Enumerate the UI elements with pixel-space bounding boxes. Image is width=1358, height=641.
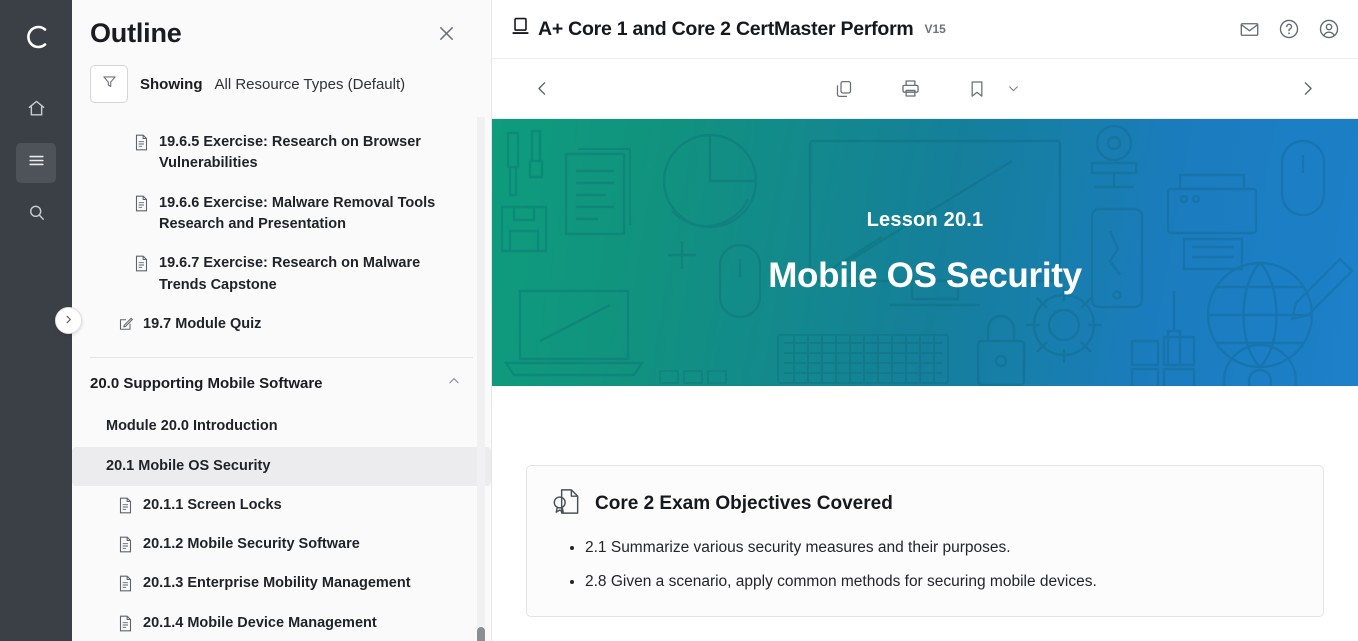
outline-section-20-0[interactable]: 20.0 Supporting Mobile Software xyxy=(72,358,491,407)
search-icon xyxy=(27,203,46,227)
exam-objectives-title: Core 2 Exam Objectives Covered xyxy=(595,493,893,515)
chevron-up-icon[interactable] xyxy=(447,374,461,393)
expand-panel-button[interactable] xyxy=(55,307,82,334)
filter-value[interactable]: All Resource Types (Default) xyxy=(215,76,406,93)
filter-button[interactable] xyxy=(90,65,128,103)
document-icon xyxy=(118,575,134,592)
close-icon xyxy=(436,31,457,48)
document-icon xyxy=(118,536,134,553)
previous-page-button[interactable] xyxy=(528,74,557,103)
course-title: A+ Core 1 and Core 2 CertMaster Perform xyxy=(538,18,914,41)
outline-scrollbar-thumb[interactable] xyxy=(477,627,485,641)
outline-item-label: 20.1.1 Screen Locks xyxy=(143,495,282,516)
outline-item-20-1-3[interactable]: 20.1.3 Enterprise Mobility Management xyxy=(72,564,491,603)
outline-item-label: 19.6.6 Exercise: Malware Removal Tools R… xyxy=(159,193,461,236)
outline-item-19-6-7[interactable]: 19.6.7 Exercise: Research on Malware Tre… xyxy=(72,244,491,305)
bookmark-icon xyxy=(967,86,987,103)
outline-item-label: 20.1 Mobile OS Security xyxy=(106,456,270,477)
chevron-right-icon xyxy=(63,312,74,330)
chevron-right-icon xyxy=(1299,84,1316,101)
course-header-actions xyxy=(1239,18,1340,40)
document-icon xyxy=(134,255,150,272)
outline-panel: Outline Showing All Resource Types (Defa… xyxy=(72,0,492,641)
list-item: 2.8 Given a scenario, apply common metho… xyxy=(585,570,1299,593)
next-page-button[interactable] xyxy=(1293,74,1322,103)
device-icon xyxy=(512,17,529,41)
menu-icon xyxy=(27,151,46,175)
outline-item-label: 20.1.4 Mobile Device Management xyxy=(143,613,377,634)
rail-item-outline[interactable] xyxy=(16,143,56,183)
outline-item-19-6-5[interactable]: 19.6.5 Exercise: Research on Browser Vul… xyxy=(72,123,491,184)
outline-item-19-7-module-quiz[interactable]: 19.7 Module Quiz xyxy=(72,305,491,344)
quiz-icon xyxy=(118,316,134,332)
print-button[interactable] xyxy=(896,74,925,103)
outline-item-label: Module 20.0 Introduction xyxy=(106,416,278,437)
hero-heading: Mobile OS Security xyxy=(768,256,1082,296)
bookmark-more-button[interactable] xyxy=(1007,82,1020,95)
certmaster-logo-icon[interactable] xyxy=(16,17,56,57)
app-root: Outline Showing All Resource Types (Defa… xyxy=(0,0,1358,641)
account-icon[interactable] xyxy=(1318,18,1340,40)
page-title: Outline xyxy=(90,18,182,49)
course-header: A+ Core 1 and Core 2 CertMaster Perform … xyxy=(492,0,1358,59)
outline-item-module-20-0-introduction[interactable]: Module 20.0 Introduction xyxy=(72,407,491,446)
document-icon xyxy=(118,497,134,514)
outline-item-20-1-mobile-os-security[interactable]: 20.1 Mobile OS Security xyxy=(72,447,491,486)
document-icon xyxy=(118,615,134,632)
chevron-down-icon xyxy=(1007,82,1020,99)
list-item: 2.1 Summarize various security measures … xyxy=(585,536,1299,559)
home-icon xyxy=(27,99,46,123)
hero-lesson-label: Lesson 20.1 xyxy=(867,209,984,232)
lesson-hero-banner: Lesson 20.1 Mobile OS Security xyxy=(492,119,1358,386)
course-header-left: A+ Core 1 and Core 2 CertMaster Perform … xyxy=(512,17,946,41)
document-icon xyxy=(134,134,150,151)
chevron-left-icon xyxy=(534,84,551,101)
bookmark-button[interactable] xyxy=(963,75,991,103)
outline-item-label: 19.6.7 Exercise: Research on Malware Tre… xyxy=(159,253,461,296)
close-outline-button[interactable] xyxy=(432,19,461,48)
filter-row: Showing All Resource Types (Default) xyxy=(72,55,491,117)
help-icon[interactable] xyxy=(1278,18,1300,40)
outline-header: Outline xyxy=(72,0,491,55)
outline-item-20-1-1[interactable]: 20.1.1 Screen Locks xyxy=(72,486,491,525)
lesson-toolbar xyxy=(492,59,1358,119)
outline-item-20-1-4[interactable]: 20.1.4 Mobile Device Management xyxy=(72,604,491,641)
outline-tree: 19.6.5 Exercise: Research on Browser Vul… xyxy=(72,117,491,641)
outline-scrollbar-track[interactable] xyxy=(477,117,485,641)
filter-showing-label: Showing xyxy=(140,76,203,93)
tech-pattern-background xyxy=(492,119,1358,386)
exam-objectives-header: Core 2 Exam Objectives Covered xyxy=(551,486,1299,522)
main-content: A+ Core 1 and Core 2 CertMaster Perform … xyxy=(492,0,1358,641)
exam-objectives-list: 2.1 Summarize various security measures … xyxy=(585,536,1299,594)
course-version: V15 xyxy=(925,22,946,36)
rail-item-search[interactable] xyxy=(16,195,56,235)
filter-icon xyxy=(101,73,118,95)
certificate-icon xyxy=(551,486,582,522)
outline-item-label: 19.7 Module Quiz xyxy=(143,314,261,335)
copy-button[interactable] xyxy=(830,75,858,103)
exam-objectives-card: Core 2 Exam Objectives Covered 2.1 Summa… xyxy=(526,465,1324,617)
toolbar-actions xyxy=(810,74,1040,103)
rail-item-home[interactable] xyxy=(16,91,56,131)
document-icon xyxy=(134,195,150,212)
outline-item-19-6-6[interactable]: 19.6.6 Exercise: Malware Removal Tools R… xyxy=(72,184,491,245)
outline-item-label: 20.1.2 Mobile Security Software xyxy=(143,534,360,555)
copy-icon xyxy=(834,86,854,103)
outline-item-20-1-2[interactable]: 20.1.2 Mobile Security Software xyxy=(72,525,491,564)
lesson-body: Core 2 Exam Objectives Covered 2.1 Summa… xyxy=(492,465,1358,641)
lesson-content: Lesson 20.1 Mobile OS Security xyxy=(492,119,1358,641)
outline-item-label: 20.1.3 Enterprise Mobility Management xyxy=(143,573,411,594)
outline-section-title: 20.0 Supporting Mobile Software xyxy=(90,375,323,392)
print-icon xyxy=(900,86,921,103)
mail-icon[interactable] xyxy=(1239,19,1260,40)
left-nav-rail xyxy=(0,0,72,641)
outline-item-label: 19.6.5 Exercise: Research on Browser Vul… xyxy=(159,132,461,175)
